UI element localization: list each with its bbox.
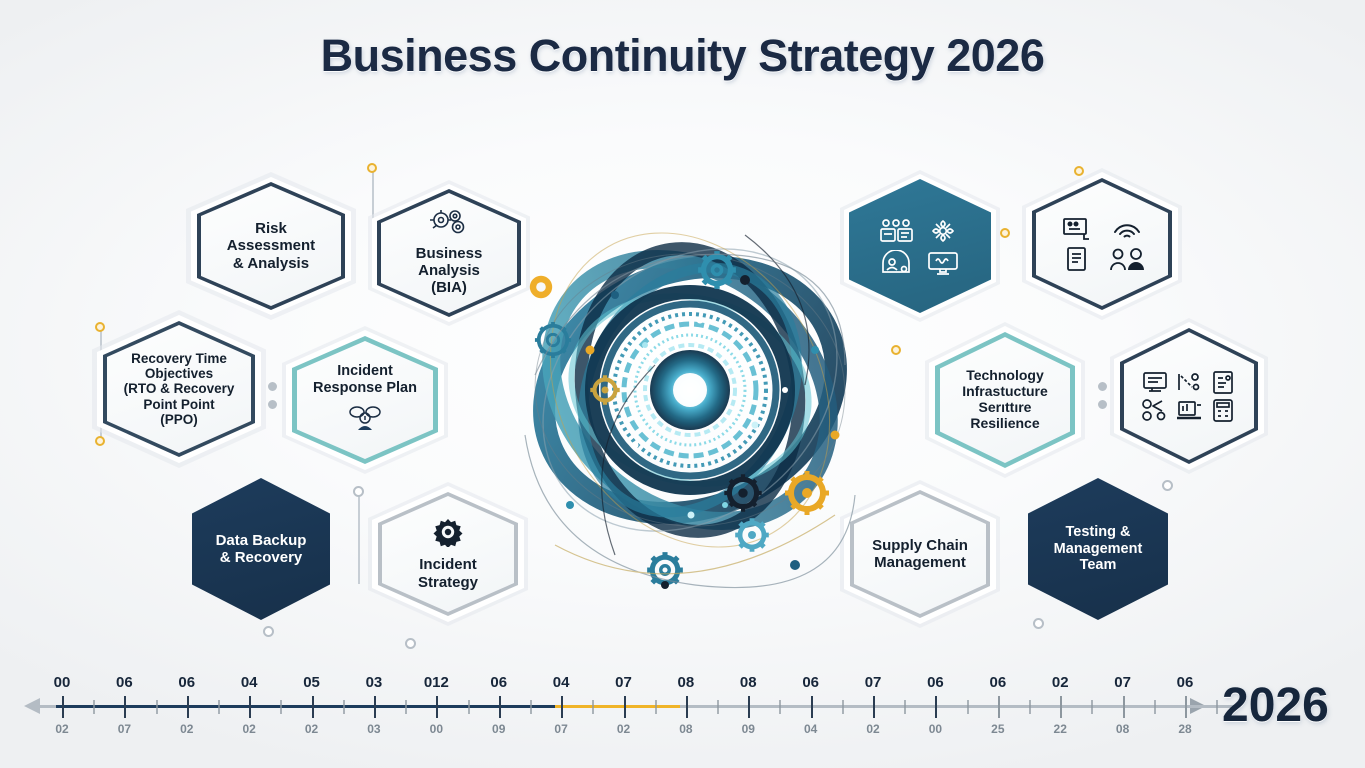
timeline-tick [811,696,813,718]
timeline-tick-minor [468,700,470,714]
timeline-tick-minor [218,700,220,714]
hexagon-label: Technology Infrastucture Serıttıre Resil… [956,368,1054,432]
timeline-label-bottom: 02 [55,722,68,736]
hexagon-analytics-icons[interactable] [1110,318,1268,474]
timeline-label-top: 04 [553,674,570,691]
monitor-report-icon [1142,371,1168,393]
timeline-label-bottom: 04 [804,722,817,736]
timeline-tick-minor [779,700,781,714]
hexagon-people-icons[interactable] [1022,168,1182,320]
hexagon-label: Testing & Management Team [1048,524,1149,574]
timeline-label-bottom: 07 [554,722,567,736]
calculator-icon [1211,398,1235,422]
timeline-tick-minor [842,700,844,714]
timeline-label-top: 07 [615,674,632,691]
abstract-technology-network-graphic [495,175,885,605]
timeline-label-bottom: 08 [679,722,692,736]
hexagon-technology-resilience[interactable]: Technology Infrastucture Serıttıre Resil… [925,322,1085,478]
trend-down-icon [1176,371,1202,393]
timeline-tick [1060,696,1062,718]
timeline-label-bottom: 02 [180,722,193,736]
timeline-label-bottom: 28 [1178,722,1191,736]
timeline-label-bottom: 02 [617,722,630,736]
timeline-tick [624,696,626,718]
laptop-chart-icon [1176,399,1202,421]
dashboard-icon [881,250,913,276]
hexagon-label: Business Analysis (BIA) [410,245,489,296]
timeline-label-bottom: 02 [305,722,318,736]
connector-node [891,345,901,355]
timeline-segment-upcoming-phase [680,705,1242,708]
timeline-tick-minor [655,700,657,714]
timeline-label-top: 07 [865,674,882,691]
timeline-tick-minor [405,700,407,714]
timeline-tick-minor [93,700,95,714]
timeline-label-top: 04 [241,674,258,691]
timeline-label-bottom: 07 [118,722,131,736]
timeline-tick-minor [1029,700,1031,714]
timeline-tick-minor [904,700,906,714]
timeline-tick [1123,696,1125,718]
timeline-label-top: 05 [303,674,320,691]
timeline-label-bottom: 02 [242,722,255,736]
timeline-label-top: 06 [802,674,819,691]
timeline-tick [873,696,875,718]
team-support-icon [345,402,385,437]
timeline-label-bottom: 03 [367,722,380,736]
timeline-tick [998,696,1000,718]
timeline-tick-minor [967,700,969,714]
timeline-tick [249,696,251,718]
connector-line [358,492,360,584]
timeline-tick-minor [592,700,594,714]
timeline-tick [187,696,189,718]
timeline-tick [686,696,688,718]
connector-node [1098,382,1107,391]
timeline-label-top: 012 [424,674,449,691]
timeline-label-top: 03 [366,674,383,691]
timeline-label-top: 06 [1177,674,1194,691]
timeline-tick [124,696,126,718]
timeline-tick-minor [1154,700,1156,714]
timeline-label-bottom: 25 [991,722,1004,736]
document-icon [1064,246,1090,272]
hexagon-label: Incident Strategy [412,556,484,590]
timeline-tick [374,696,376,718]
network-node-icon [928,217,958,245]
connector-node [1000,228,1010,238]
timeline-label-bottom: 22 [1054,722,1067,736]
workflow-nodes-icon [1141,398,1169,422]
timeline-label-top: 02 [1052,674,1069,691]
connector-node [367,163,377,173]
hexagon-incident-response[interactable]: Incident Response Plan [282,326,448,474]
timeline-label-top: 00 [54,674,71,691]
gear-icon [433,517,463,552]
timeline-segment-completed-phase [56,705,555,708]
hexagon-label: Data Backup & Recovery [210,532,313,566]
connector-node [405,638,416,649]
timeline-label-top: 06 [989,674,1006,691]
timeline-year-badge: 2026 [1222,678,1329,733]
timeline-label-bottom: 09 [492,722,505,736]
two-people-icon [1108,246,1146,272]
people-network-icon-set [1058,217,1146,272]
timeline-label-bottom: 08 [1116,722,1129,736]
timeline-label-top: 06 [490,674,507,691]
timeline[interactable]: 0002060706020402050203030120006090407070… [0,660,1365,768]
timeline-label-bottom: 02 [866,722,879,736]
timeline-label-top: 06 [927,674,944,691]
team-cards-icon [880,218,914,244]
timeline-label-bottom: 09 [742,722,755,736]
timeline-tick-minor [280,700,282,714]
connector-node [268,382,277,391]
timeline-tick-minor [1216,700,1218,714]
connector-node [1098,400,1107,409]
timeline-label-top: 06 [116,674,133,691]
hexagon-label: Recovery Time Objectives (RTO & Recovery… [118,351,241,428]
wifi-signal-icon [1111,218,1143,240]
timeline-tick [436,696,438,718]
timeline-label-top: 06 [178,674,195,691]
timeline-tick-minor [1091,700,1093,714]
checklist-icon [1211,370,1235,394]
timeline-label-top: 07 [1114,674,1131,691]
timeline-tick [935,696,937,718]
timeline-label-top: 08 [678,674,695,691]
timeline-label-bottom: 00 [430,722,443,736]
timeline-tick [62,696,64,718]
timeline-tick [561,696,563,718]
hexagon-label: Risk Assessment & Analysis [221,220,321,271]
presentation-board-icon [1062,217,1092,241]
timeline-tick [499,696,501,718]
timeline-tick [748,696,750,718]
hexagon-testing-management[interactable]: Testing & Management Team [1028,478,1168,620]
connector-node [263,626,274,637]
timeline-tick [1185,696,1187,718]
hexagon-data-backup[interactable]: Data Backup & Recovery [192,478,330,620]
gear-cluster-icon [428,208,470,243]
monitor-icon [927,250,959,276]
timeline-tick-minor [717,700,719,714]
hexagon-risk-assessment[interactable]: Risk Assessment & Analysis [186,172,356,320]
connector-node [268,400,277,409]
timeline-label-bottom: 00 [929,722,942,736]
timeline-tick-minor [156,700,158,714]
comms-icon-set [880,217,960,276]
hexagon-recovery-time[interactable]: Recovery Time Objectives (RTO & Recovery… [92,310,266,468]
connector-node [353,486,364,497]
timeline-tick-minor [343,700,345,714]
timeline-label-top: 08 [740,674,757,691]
hexagon-label: Incident Response Plan [307,363,423,396]
timeline-tick-minor [530,700,532,714]
timeline-segment-current-phase [555,705,680,708]
timeline-tick [312,696,314,718]
hexagon-diagram: Risk Assessment & Analysis Business Anal… [0,0,1365,768]
analytics-icon-set [1141,370,1237,422]
